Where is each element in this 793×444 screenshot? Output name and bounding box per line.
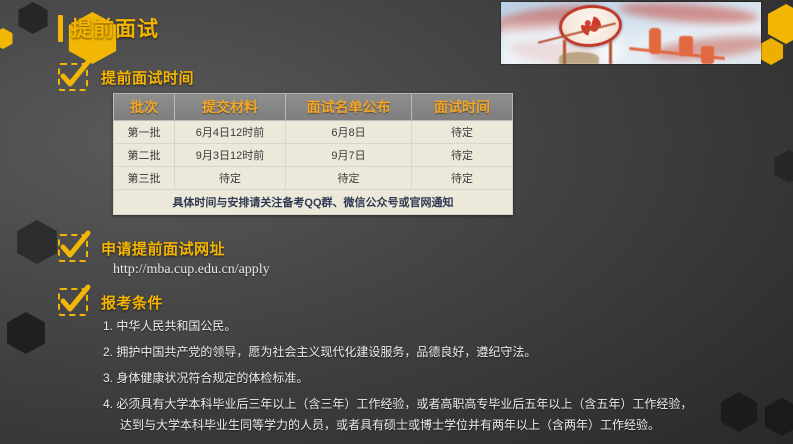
table-cell: 待定 (412, 144, 513, 167)
table-footnote-row: 具体时间与安排请关注备考QQ群、微信公众号或官网通知 (114, 190, 513, 215)
list-item-text: 中华人民共和国公民。 (116, 319, 236, 333)
title-text: 提前面试 (71, 13, 159, 43)
list-item-text: 拥护中国共产党的领导，愿为社会主义现代化建设服务，品德良好，遵纪守法。 (116, 345, 536, 359)
hexagon-decoration-dark-left-mid (14, 220, 60, 264)
table-row: 第二批 9月3日12时前 9月7日 待定 (114, 144, 513, 167)
title-accent-bar (58, 15, 63, 42)
hexagon-decoration-yellow-edge-left (0, 28, 14, 49)
list-item-number: 1. (103, 319, 113, 333)
section-title: 报考条件 (101, 292, 163, 313)
list-item-number: 3. (103, 371, 113, 385)
slide-canvas: 提前面试 提前面试时间 批次 提交材料 面试名单公布 (0, 0, 793, 444)
apply-url-link[interactable]: http://mba.cup.edu.cn/apply (113, 262, 270, 278)
hexagon-decoration-yellow-right-small (757, 38, 785, 65)
banner-cloud (619, 2, 760, 27)
list-item-text: 必须具有大学本科毕业后三年以上（含三年）工作经验，或者高职高专毕业后五年以上（含… (116, 397, 692, 411)
table-cell: 第三批 (114, 167, 175, 190)
list-item: 4. 必须具有大学本科毕业后三年以上（含三年）工作经验，或者高职高专毕业后五年以… (103, 394, 783, 436)
check-box-icon (58, 63, 88, 91)
list-item: 2. 拥护中国共产党的领导，愿为社会主义现代化建设服务，品德良好，遵纪守法。 (103, 342, 783, 363)
table-cell: 待定 (286, 167, 412, 190)
hexagon-decoration-dark-topleft (16, 2, 50, 34)
list-item: 1. 中华人民共和国公民。 (103, 316, 783, 337)
table-header-cell: 批次 (114, 94, 175, 121)
list-item-number: 4. (103, 397, 113, 411)
section-header-interview-time: 提前面试时间 (58, 63, 194, 91)
interview-schedule-table: 批次 提交材料 面试名单公布 面试时间 第一批 6月4日12时前 6月8日 待定… (113, 93, 513, 215)
banner-vegetation (559, 52, 599, 64)
table-header-cell: 面试时间 (412, 94, 513, 121)
table-cell: 6月8日 (286, 121, 412, 144)
list-item: 3. 身体健康状况符合规定的体检标准。 (103, 368, 783, 389)
table-row: 第一批 6月4日12时前 6月8日 待定 (114, 121, 513, 144)
table-footnote: 具体时间与安排请关注备考QQ群、微信公众号或官网通知 (114, 190, 513, 215)
check-box-icon (58, 234, 88, 262)
table-cell: 第一批 (114, 121, 175, 144)
section-header-conditions: 报考条件 (58, 288, 163, 316)
list-item-number: 2. (103, 345, 113, 359)
table-row: 第三批 待定 待定 待定 (114, 167, 513, 190)
page-title: 提前面试 (58, 10, 159, 46)
check-box-icon (58, 288, 88, 316)
section-header-apply-url: 申请提前面试网址 (58, 234, 225, 262)
table-cell: 第二批 (114, 144, 175, 167)
hexagon-decoration-dark-right-mid (772, 150, 793, 183)
table-cell: 9月7日 (286, 144, 412, 167)
table-cell: 待定 (175, 167, 286, 190)
campus-photo-banner (501, 2, 761, 64)
list-item-text: 身体健康状况符合规定的体检标准。 (116, 371, 308, 385)
conditions-list: 1. 中华人民共和国公民。 2. 拥护中国共产党的领导，愿为社会主义现代化建设服… (103, 316, 783, 441)
section-title: 提前面试时间 (101, 67, 194, 88)
table-cell: 9月3日12时前 (175, 144, 286, 167)
list-item-text-continued: 达到与大学本科毕业生同等学力的人员，或者具有硕士或博士学位并有两年以上（含两年）… (120, 415, 783, 436)
section-title: 申请提前面试网址 (101, 238, 225, 259)
table-cell: 6月4日12时前 (175, 121, 286, 144)
table-cell: 待定 (412, 121, 513, 144)
table-cell: 待定 (412, 167, 513, 190)
banner-rig-pole (609, 40, 612, 64)
table-header-cell: 提交材料 (175, 94, 286, 121)
hexagon-decoration-dark-left-low (4, 312, 48, 354)
table-header-row: 批次 提交材料 面试名单公布 面试时间 (114, 94, 513, 121)
table-header-cell: 面试名单公布 (286, 94, 412, 121)
